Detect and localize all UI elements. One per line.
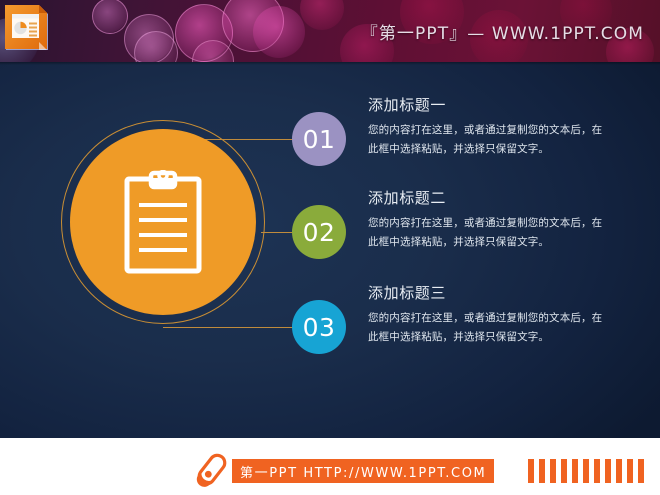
bokeh-circle bbox=[124, 14, 174, 62]
footer-stripe bbox=[583, 459, 589, 483]
item-number-badge: 02 bbox=[292, 205, 346, 259]
pencil-icon bbox=[192, 450, 230, 490]
footer-stripe bbox=[550, 459, 556, 483]
bokeh-circle bbox=[175, 4, 233, 62]
item-number-badge: 01 bbox=[292, 112, 346, 166]
footer-url-bar[interactable]: 第一PPT HTTP://WWW.1PPT.COM bbox=[232, 459, 494, 483]
connector-line-3 bbox=[163, 327, 308, 328]
item-desc-line-2: 此框中选择粘贴，并选择只保留文字。 bbox=[368, 233, 640, 252]
item-number-badge: 03 bbox=[292, 300, 346, 354]
footer-stripe bbox=[572, 459, 578, 483]
footer-stripe bbox=[638, 459, 644, 483]
bokeh-circle bbox=[300, 0, 344, 30]
footer-stripe bbox=[594, 459, 600, 483]
bokeh-circle bbox=[92, 0, 128, 34]
footer-stripe bbox=[539, 459, 545, 483]
bokeh-circle bbox=[134, 31, 178, 62]
item-text-block: 添加标题二 您的内容打在这里，或者通过复制您的文本后，在 此框中选择粘贴，并选择… bbox=[368, 188, 640, 252]
item-text-block: 添加标题一 您的内容打在这里，或者通过复制您的文本后，在 此框中选择粘贴，并选择… bbox=[368, 95, 640, 159]
item-desc-line-1: 您的内容打在这里，或者通过复制您的文本后，在 bbox=[368, 309, 640, 328]
footer-stripe bbox=[561, 459, 567, 483]
header-title: 『第一PPT』— WWW.1PPT.COM bbox=[361, 19, 644, 44]
footer-stripe bbox=[627, 459, 633, 483]
clipboard-icon bbox=[124, 170, 202, 274]
item-title: 添加标题二 bbox=[368, 188, 640, 208]
item-title: 添加标题三 bbox=[368, 283, 640, 303]
item-title: 添加标题一 bbox=[368, 95, 640, 115]
item-desc-line-2: 此框中选择粘贴，并选择只保留文字。 bbox=[368, 140, 640, 159]
slide-canvas: 『第一PPT』— WWW.1PPT.COM bbox=[0, 0, 660, 495]
bokeh-circle bbox=[222, 0, 284, 52]
bokeh-circle bbox=[192, 40, 234, 62]
bokeh-circle bbox=[253, 6, 305, 58]
item-desc-line-2: 此框中选择粘贴，并选择只保留文字。 bbox=[368, 328, 640, 347]
footer-stripe bbox=[616, 459, 622, 483]
item-text-block: 添加标题三 您的内容打在这里，或者通过复制您的文本后，在 此框中选择粘贴，并选择… bbox=[368, 283, 640, 347]
item-desc-line-1: 您的内容打在这里，或者通过复制您的文本后，在 bbox=[368, 214, 640, 233]
powerpoint-logo-icon[interactable] bbox=[4, 4, 50, 52]
header-banner: 『第一PPT』— WWW.1PPT.COM bbox=[0, 0, 660, 62]
footer-stripe bbox=[528, 459, 534, 483]
footer-stripe bbox=[605, 459, 611, 483]
footer-stripes bbox=[528, 459, 660, 483]
item-desc-line-1: 您的内容打在这里，或者通过复制您的文本后，在 bbox=[368, 121, 640, 140]
